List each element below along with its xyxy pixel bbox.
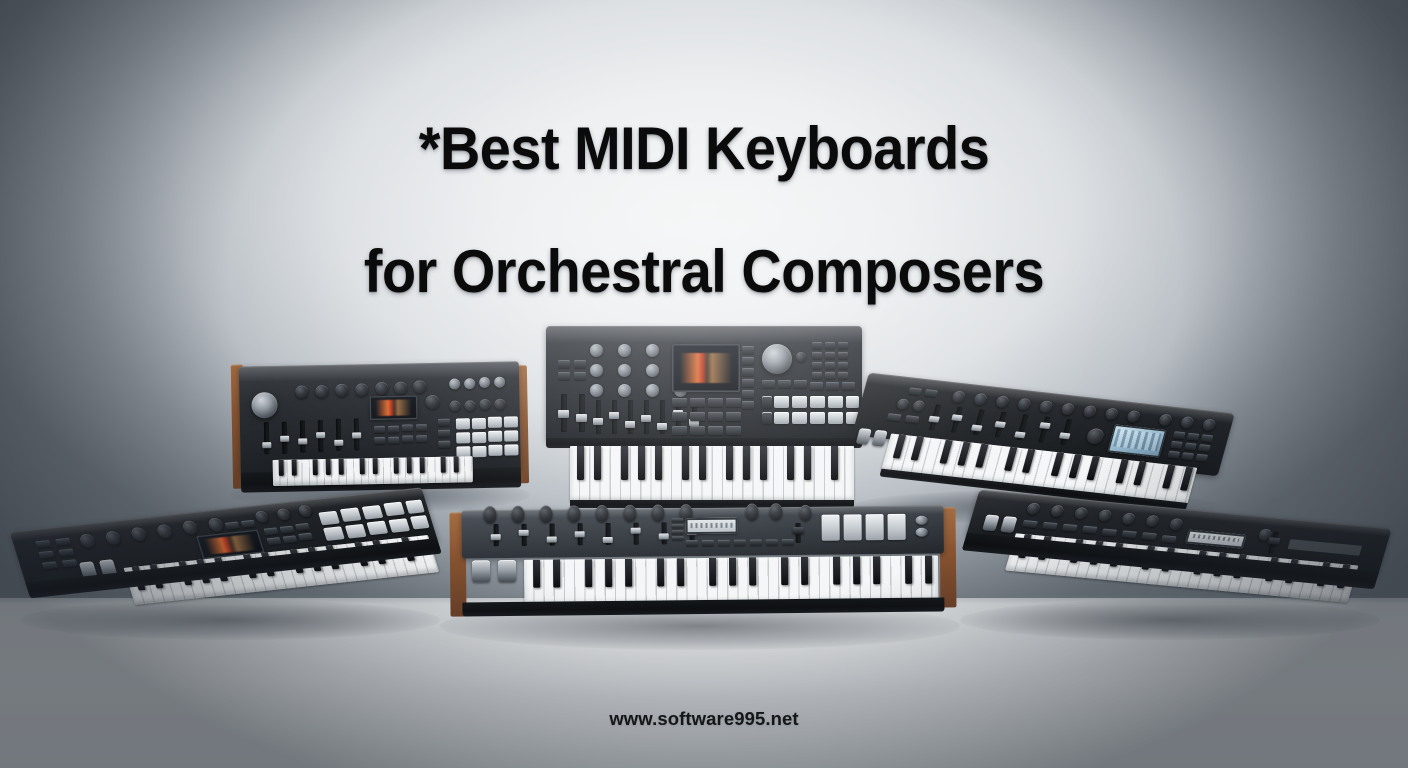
keyboard-front-center-controller[interactable]	[449, 497, 956, 626]
page-title-line-2: for Orchestral Composers	[49, 241, 1358, 303]
keybed[interactable]	[570, 446, 854, 502]
keybed[interactable]	[273, 456, 473, 486]
color-lcd-screen[interactable]	[1107, 424, 1166, 457]
page-title-line-1: *Best MIDI Keyboards	[49, 118, 1358, 180]
mono-lcd-screen[interactable]	[686, 518, 738, 535]
lcd-screen[interactable]	[369, 395, 417, 420]
poster-canvas: *Best MIDI Keyboards for Orchestral Comp…	[0, 0, 1408, 768]
keyboard-back-left-workstation[interactable]	[231, 355, 530, 501]
footer-website-url: www.software995.net	[0, 708, 1408, 730]
volume-slider-cap[interactable]	[1268, 537, 1281, 545]
page-title: *Best MIDI Keyboards for Orchestral Comp…	[49, 56, 1358, 365]
